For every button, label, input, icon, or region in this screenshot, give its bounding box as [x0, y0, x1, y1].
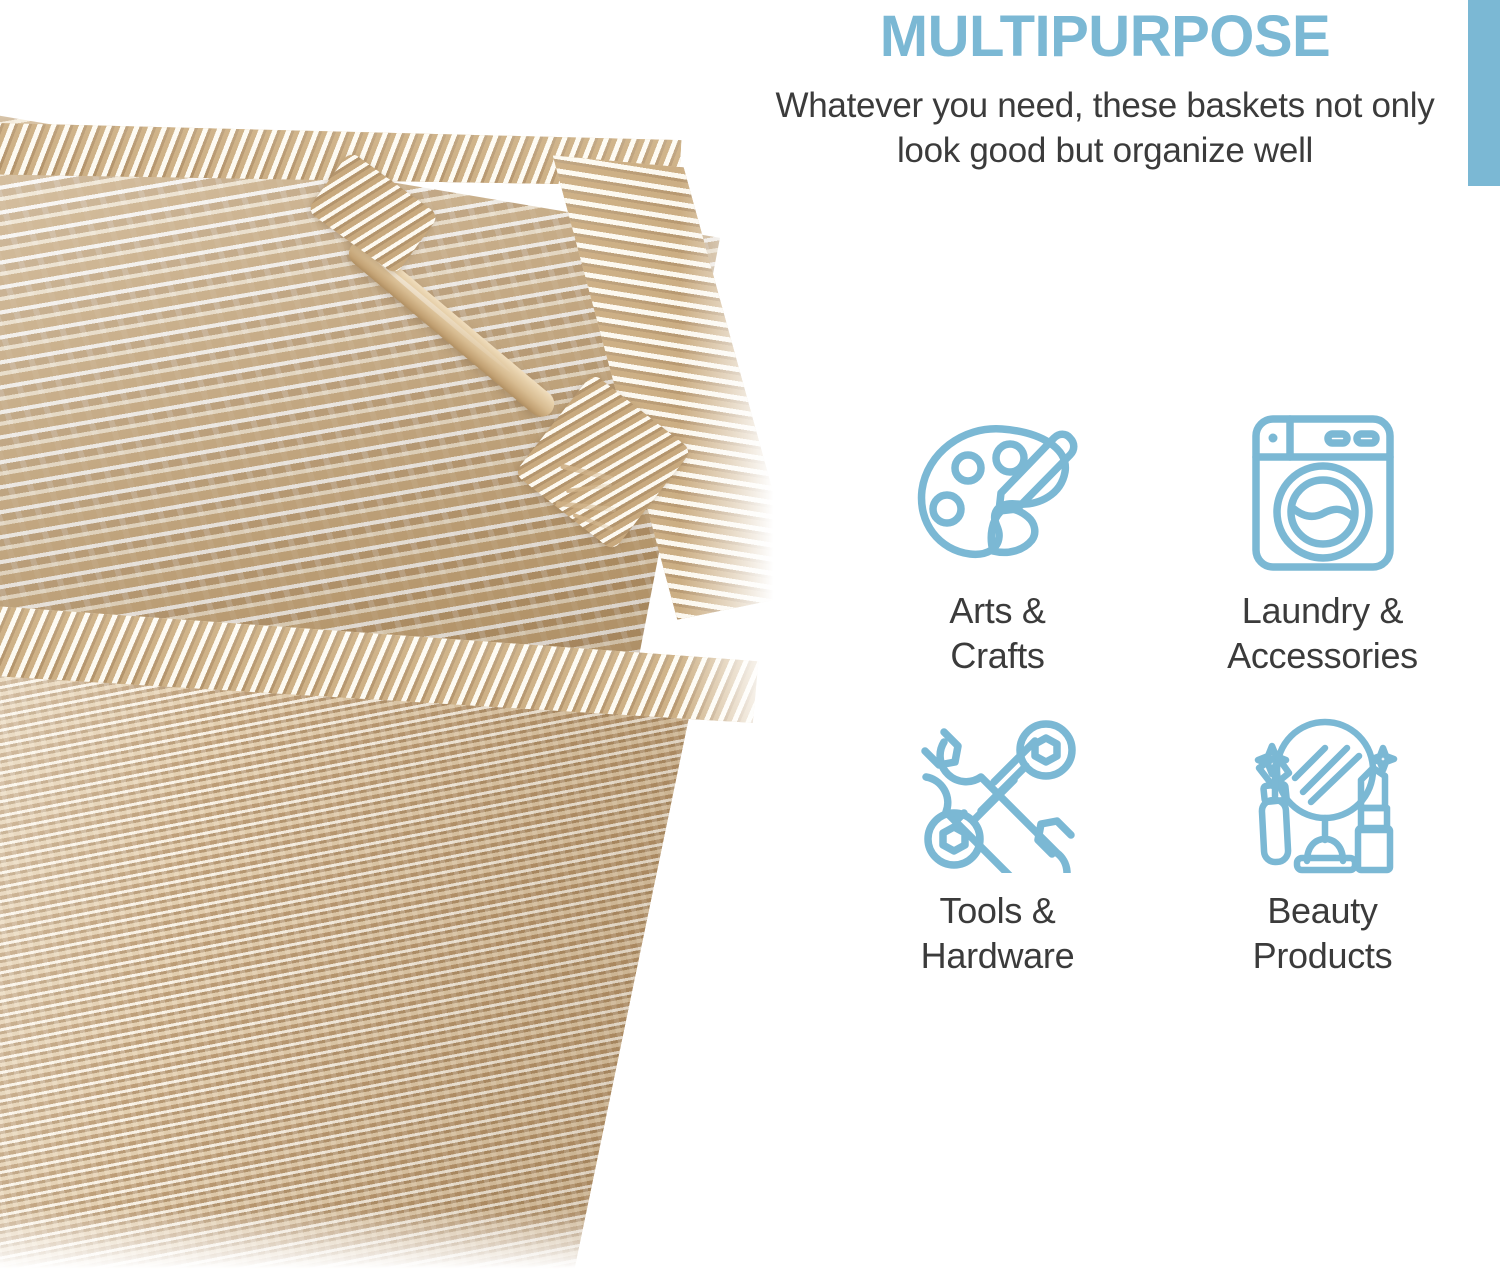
multipurpose-infographic: MULTIPURPOSE Whatever you need, these ba… — [0, 0, 1500, 1279]
basket-product-photo — [0, 0, 800, 1279]
feature-label: Laundry & Accessories — [1227, 588, 1418, 679]
feature-item-beauty-products: Beauty Products — [1180, 708, 1465, 1008]
header-accent-bar — [1468, 0, 1500, 186]
page-subtitle: Whatever you need, these baskets not onl… — [760, 68, 1450, 174]
feature-item-arts-crafts: Arts & Crafts — [855, 408, 1140, 708]
photo-edge-fade-top — [0, 0, 800, 120]
feature-item-laundry-accessories: Laundry & Accessories — [1180, 408, 1465, 708]
page-title: MULTIPURPOSE — [760, 0, 1450, 68]
crossed-wrenches-icon — [918, 708, 1078, 878]
photo-edge-fade-right — [680, 0, 800, 1279]
feature-item-tools-hardware: Tools & Hardware — [855, 708, 1140, 1008]
basket-outer-weave — [0, 640, 800, 1279]
paint-palette-icon — [909, 408, 1087, 578]
feature-label: Arts & Crafts — [949, 588, 1045, 679]
header-block: MULTIPURPOSE Whatever you need, these ba… — [760, 0, 1450, 174]
makeup-mirror-icon — [1237, 708, 1409, 878]
washing-machine-icon — [1250, 408, 1396, 578]
feature-label: Tools & Hardware — [921, 888, 1075, 979]
feature-grid: Arts & Crafts Laundry & Accessories — [855, 408, 1465, 1008]
feature-label: Beauty Products — [1253, 888, 1393, 979]
